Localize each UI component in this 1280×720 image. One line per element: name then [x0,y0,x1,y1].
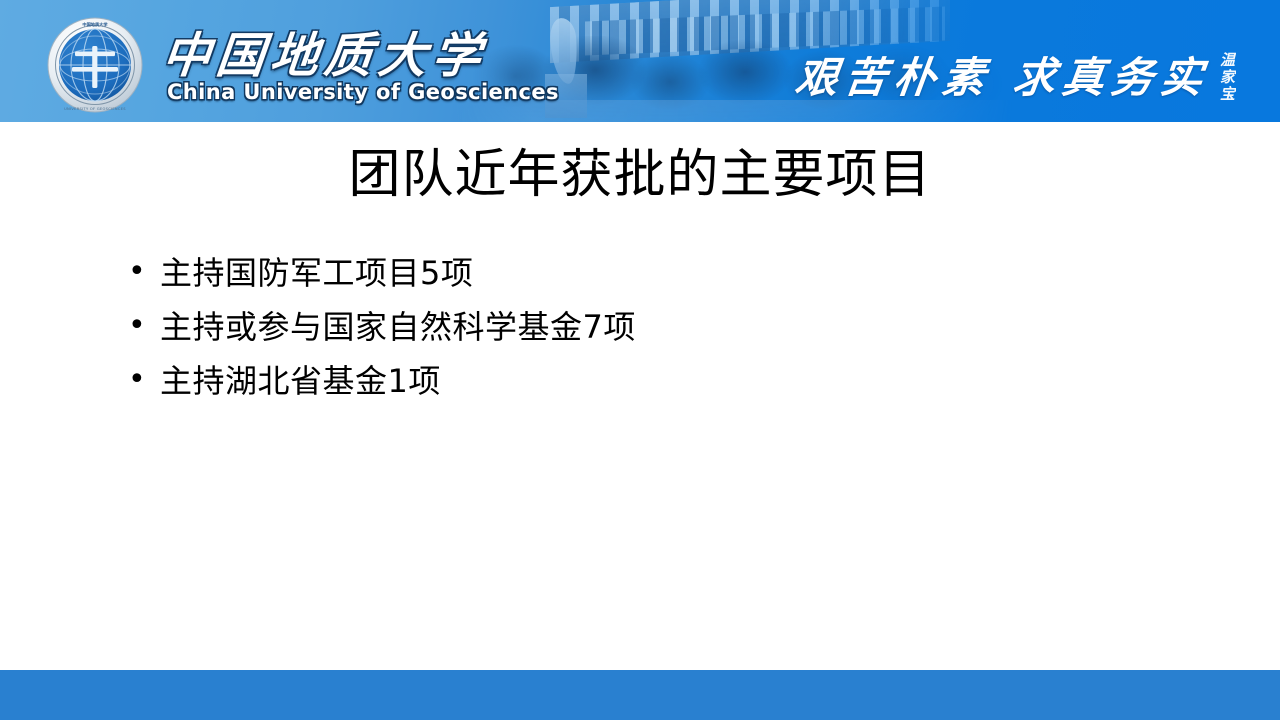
svg-text:UNIVERSITY OF GEOSCIENCES: UNIVERSITY OF GEOSCIENCES [64,107,126,111]
presentation-slide: 中国地质大学 UNIVERSITY OF GEOSCIENCES 中国地质大学 … [0,0,1280,720]
university-seal-icon: 中国地质大学 UNIVERSITY OF GEOSCIENCES [46,16,144,114]
bullet-marker-icon: • [128,304,160,348]
bullet-text: 主持国防军工项目5项 [160,250,473,296]
bullet-list: • 主持国防军工项目5项 • 主持或参与国家自然科学基金7项 • 主持湖北省基金… [128,250,1188,412]
university-name-chinese: 中国地质大学 [159,16,490,86]
svg-text:中国地质大学: 中国地质大学 [82,21,108,28]
list-item: • 主持湖北省基金1项 [128,358,1188,412]
motto-signature: 温家宝 [1208,52,1234,103]
slide-footer-bar [0,670,1280,720]
university-name-english: China University of Geosciences [167,80,559,104]
slide-title: 团队近年获批的主要项目 [0,144,1280,206]
list-item: • 主持国防军工项目5项 [128,250,1188,304]
bullet-marker-icon: • [128,358,160,402]
university-motto: 艰苦朴素 求真务实 [792,44,1213,105]
slide-header-banner: 中国地质大学 UNIVERSITY OF GEOSCIENCES 中国地质大学 … [0,0,1280,122]
bullet-text: 主持湖北省基金1项 [160,358,441,404]
bullet-marker-icon: • [128,250,160,294]
list-item: • 主持或参与国家自然科学基金7项 [128,304,1188,358]
slide-content-area: 团队近年获批的主要项目 • 主持国防军工项目5项 • 主持或参与国家自然科学基金… [0,122,1280,670]
bullet-text: 主持或参与国家自然科学基金7项 [160,304,636,350]
